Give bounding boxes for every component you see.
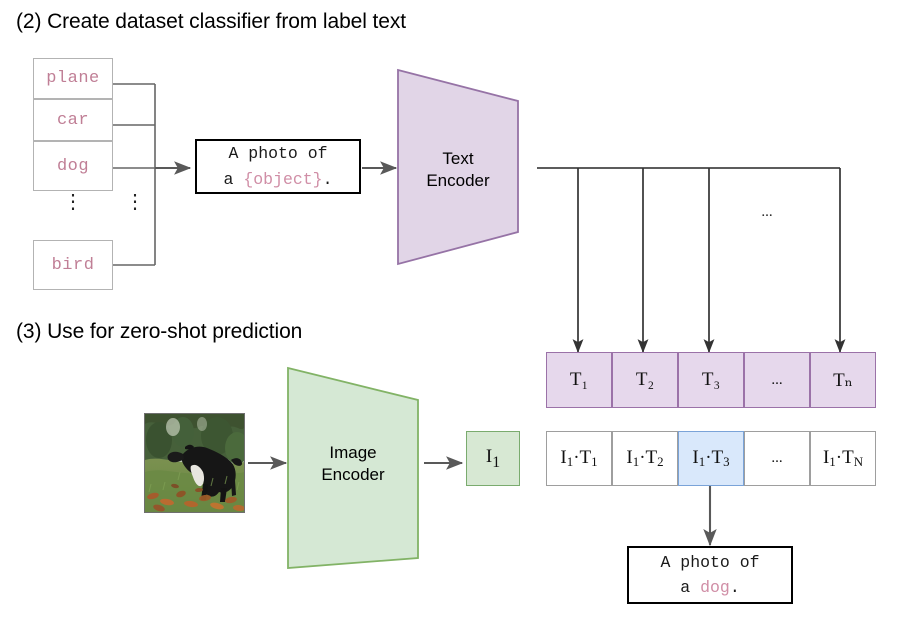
sim3-i-sub: 1 [699,454,705,469]
simn-t-sub: N [854,454,863,469]
section-2-title: (2) Create dataset classifier from label… [16,10,406,34]
text-feature-cell-n[interactable]: Tₙ [810,352,876,408]
sim2-t: T [646,447,658,468]
similarity-cell-ellipsis-label: ... [771,450,782,467]
similarity-cell-3-highlighted[interactable]: I1·T3 [678,431,744,486]
similarity-cell-2[interactable]: I1·T2 [612,431,678,486]
text-feature-cell-ellipsis-label: ... [771,372,782,389]
result-line-2: a dog. [680,575,739,600]
label-text: dog [57,157,89,176]
label-text: car [57,111,89,130]
similarity-cell-1-label: I1·T1 [560,447,597,470]
image-feature-label: I1 [486,446,500,472]
label-box-bird[interactable]: bird [33,240,113,290]
prompt-line-2-suffix: . [323,170,333,189]
label-text: plane [46,69,100,88]
label-box-car[interactable]: car [33,99,113,141]
image-encoder-shape [288,368,418,568]
similarity-cell-n[interactable]: I1·TN [810,431,876,486]
similarity-cell-ellipsis[interactable]: ... [744,431,810,486]
text-encoder-shape [398,70,518,264]
result-line-1: A photo of [660,550,759,575]
result-line-2-prefix: a [680,578,700,597]
dog-photo[interactable] [144,413,245,513]
text-feature-cell-1-label: T₁ [570,369,588,391]
text-feature-cell-1[interactable]: T₁ [546,352,612,408]
sim1-t-sub: 1 [591,454,597,469]
vertical-ellipsis-connectors: ⋮ [124,200,146,204]
label-box-plane[interactable]: plane [33,58,113,99]
section-3-title: (3) Use for zero-shot prediction [16,320,302,344]
result-predicted-class: dog [700,578,730,597]
text-feature-cell-ellipsis[interactable]: ... [744,352,810,408]
result-line-2-suffix: . [730,578,740,597]
sim1-t: T [580,447,592,468]
sim2-t-sub: 2 [657,454,663,469]
text-feature-cell-2[interactable]: T₂ [612,352,678,408]
text-feature-cell-n-label: Tₙ [833,369,853,392]
label-box-dog[interactable]: dog [33,141,113,191]
simn-t: T [842,447,854,468]
similarity-cell-3-label: I1·T3 [692,447,729,470]
text-feature-cell-3[interactable]: T₃ [678,352,744,408]
similarity-cell-2-label: I1·T2 [626,447,663,470]
vertical-ellipsis-labels: ⋮ [62,200,84,204]
text-feature-cell-3-label: T₃ [702,369,720,391]
sim3-t-sub: 3 [723,454,729,469]
text-feature-cell-2-label: T₂ [636,369,654,391]
prediction-result-box[interactable]: A photo of a dog. [627,546,793,604]
sim3-t: T [712,447,724,468]
image-feature-box[interactable]: I1 [466,431,520,486]
figure-root: (2) Create dataset classifier from label… [0,0,906,624]
dog-photo-graphic [145,414,244,512]
prompt-line-2-prefix: a [224,170,244,189]
similarity-cell-1[interactable]: I1·T1 [546,431,612,486]
bus-ellipsis: ... [750,204,784,221]
prompt-object-token: {object} [243,170,322,189]
simn-i-sub: 1 [829,454,835,469]
label-text: bird [52,256,95,275]
encoder-shape-layer [0,0,906,624]
sim2-i-sub: 1 [633,454,639,469]
similarity-cell-n-label: I1·TN [823,447,863,470]
prompt-line-1: A photo of [228,141,327,166]
prompt-template-box[interactable]: A photo of a {object}. [195,139,361,194]
sim1-i-sub: 1 [567,454,573,469]
image-feature-sub: 1 [492,453,500,470]
prompt-line-2: a {object}. [224,167,333,192]
